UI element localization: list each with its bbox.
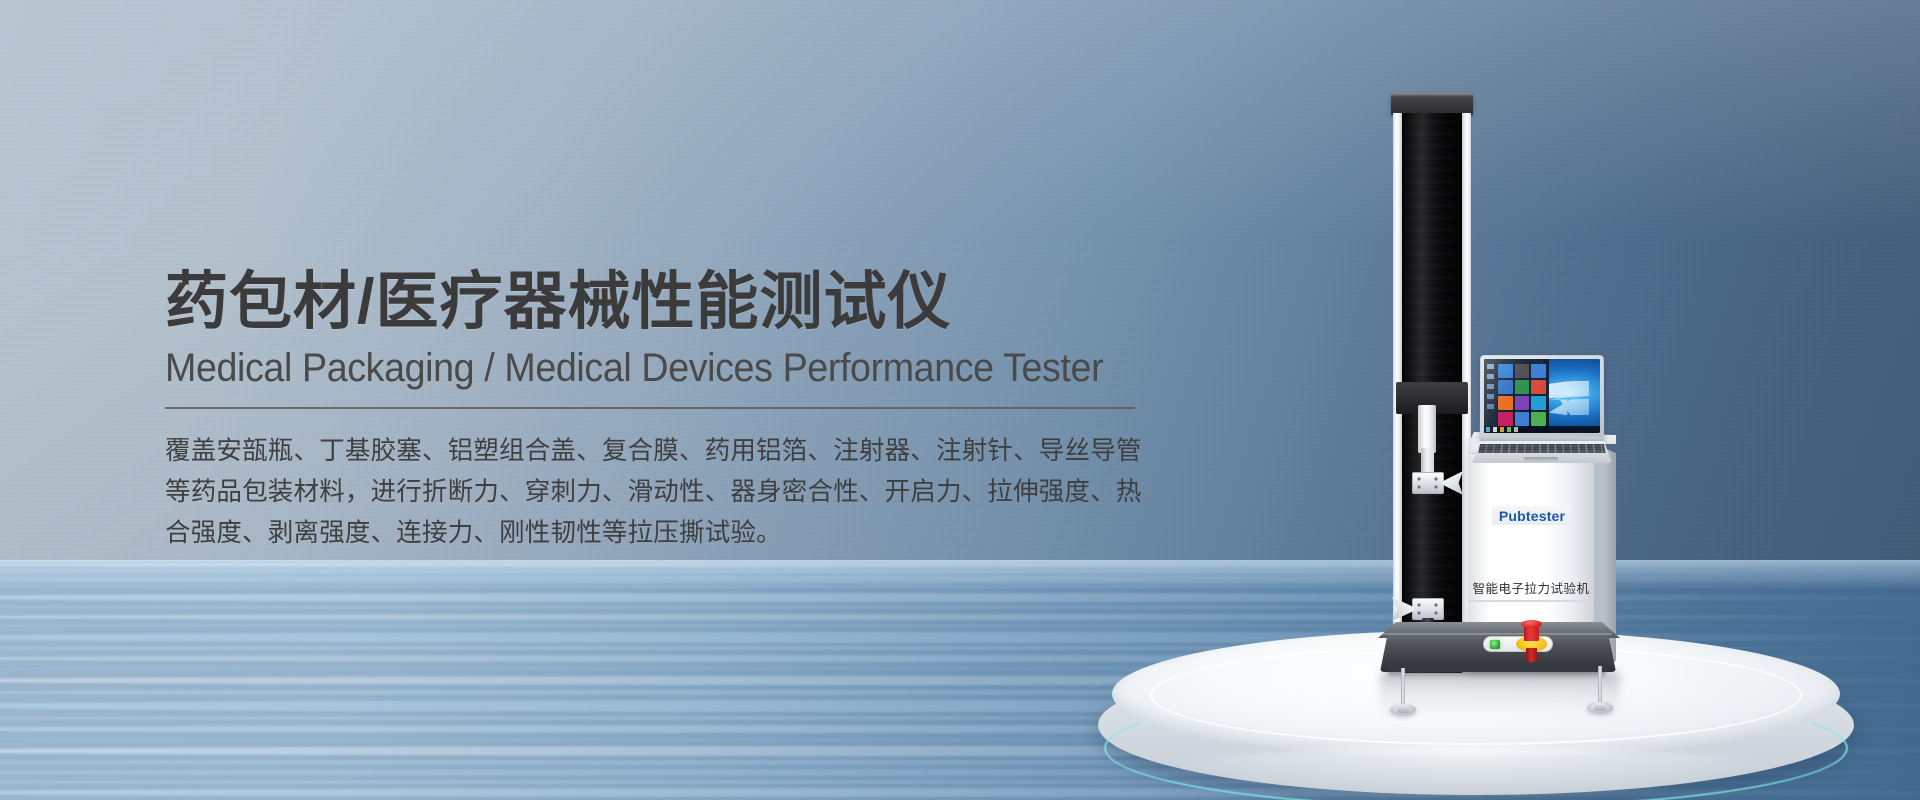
water-streak	[0, 586, 1920, 588]
laptop-trackpad[interactable]	[1524, 457, 1558, 462]
machine-load-cell	[1421, 448, 1434, 474]
laptop-screen[interactable]	[1484, 359, 1600, 433]
water-streak	[0, 614, 1920, 620]
page-title: 药包材/医疗器械性能测试仪	[165, 268, 1165, 336]
machine-column-cap-highlight	[1391, 93, 1473, 97]
water-streak	[0, 570, 1920, 573]
machine-foot-right-nut	[1594, 704, 1606, 711]
brand-logo: Pubtester	[1492, 506, 1572, 525]
laptop-keyboard[interactable]	[1478, 444, 1606, 453]
machine-foot-left	[1401, 668, 1416, 713]
machine-foot-right-rod	[1598, 666, 1602, 702]
podium-reflection	[1150, 746, 1790, 800]
laptop-screen-glare	[1484, 359, 1600, 433]
water-streak	[0, 593, 1920, 602]
machine-foot-right	[1598, 666, 1613, 711]
machine-reflection	[1380, 672, 1620, 718]
brand-logo-text: Pubtester	[1499, 508, 1565, 524]
title-divider	[165, 407, 1135, 409]
cabinet-seam-bottom	[1468, 600, 1594, 602]
machine-upper-grip-bolts-right	[1433, 476, 1443, 490]
machine-base-highlight	[1382, 633, 1612, 635]
machine-foot-left-rod	[1401, 668, 1405, 704]
hero-copy-block: 药包材/医疗器械性能测试仪 Medical Packaging / Medica…	[165, 268, 1165, 555]
machine-lower-grip-bolts-right	[1433, 602, 1443, 616]
machine-upper-grip-bolts-left	[1416, 476, 1426, 490]
machine-base-shadow	[1388, 668, 1606, 678]
emergency-stop-stem	[1526, 648, 1537, 662]
hero-banner: Pubtester 智能电子拉力试验机	[0, 0, 1920, 800]
water-streak	[0, 562, 1920, 567]
water-streak	[0, 605, 1920, 609]
laptop-webcam-icon	[1540, 361, 1543, 364]
machine-foot-left-nut	[1397, 706, 1409, 713]
water-streak	[0, 576, 1920, 583]
machine-lower-grip-bolts-left	[1416, 602, 1426, 616]
emergency-stop-cap[interactable]	[1521, 620, 1542, 628]
page-subtitle: Medical Packaging / Medical Devices Perf…	[165, 346, 1105, 391]
machine-crosshead-plate	[1418, 405, 1436, 453]
page-description: 覆盖安瓿瓶、丁基胶塞、铝塑组合盖、复合膜、药用铝箔、注射器、注射针、导丝导管等药…	[165, 431, 1165, 555]
machine-model-label: 智能电子拉力试验机	[1470, 578, 1592, 597]
water-streak	[0, 624, 1920, 627]
power-indicator-light	[1490, 640, 1500, 649]
